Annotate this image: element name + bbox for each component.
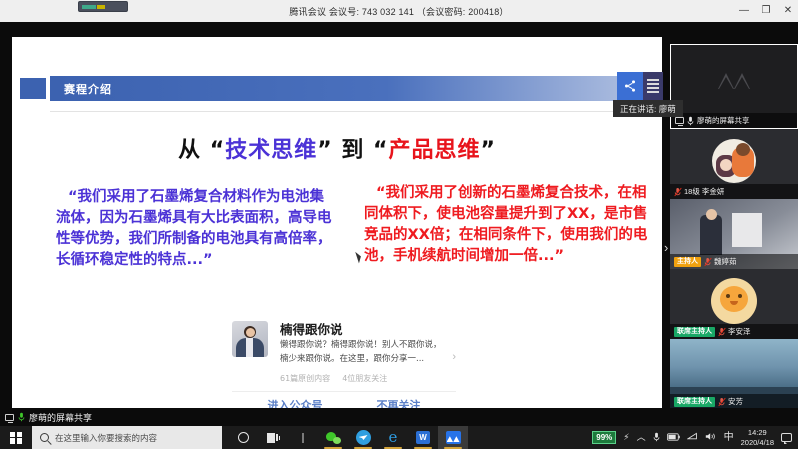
microphone-muted-icon — [704, 257, 711, 267]
account-name: 楠得跟你说 — [280, 319, 343, 338]
participant-name: 李安泽 — [728, 326, 751, 337]
host-badge: 主持人 — [674, 257, 701, 267]
participant-namebar: 联席主持人 安芳 — [670, 394, 798, 409]
microphone-icon — [18, 412, 25, 422]
slide-title-red: 产品思维 — [388, 138, 480, 163]
edge-icon[interactable]: e — [378, 426, 408, 449]
screen-root: 腾讯会议 会议号: 743 032 141 （会议密码: 200418） — ❐… — [0, 0, 798, 449]
share-toolbar[interactable] — [617, 72, 663, 100]
telegram-icon[interactable] — [348, 426, 378, 449]
window-controls: — ❐ ✕ — [738, 0, 794, 22]
task-view-icon[interactable] — [258, 426, 288, 449]
participant-tile-1[interactable]: 18级 李金妍 — [670, 129, 798, 199]
cortana-icon[interactable] — [228, 426, 258, 449]
slide-title-blue: 技术思维 — [225, 138, 317, 163]
slide-banner-label: 赛程介绍 — [64, 81, 112, 97]
quote-product: “我们采用了创新的石墨烯复合技术，在相同体积下，使电池容量提升到了XX，是市售竞… — [364, 183, 656, 267]
participant-name: 廖萌的屏幕共享 — [697, 115, 750, 126]
windows-logo-icon — [10, 432, 22, 444]
collapse-panel-chevron-icon[interactable]: › — [664, 240, 668, 255]
wps-icon[interactable]: W — [408, 426, 438, 449]
participant-namebar: 联席主持人 李安泽 — [670, 324, 798, 339]
presentation-slide: 赛程介绍 从 “技术思维” 到 “产品思维” “我们采用了石墨烯复合材料作为电池… — [12, 37, 662, 417]
chevron-right-icon[interactable]: › — [452, 351, 456, 363]
screen-share-icon — [675, 117, 684, 124]
clock-date: 2020/4/18 — [741, 438, 774, 447]
account-description: 懒得跟你说？楠得跟你说！别人不跟你说，楠少来跟你说。在这里，跟你分享一... — [280, 339, 448, 366]
volume-icon[interactable] — [705, 432, 717, 443]
minimize-button[interactable]: — — [738, 0, 750, 22]
slide-title: 从 “技术思维” 到 “产品思维” — [12, 132, 662, 164]
slide-banner-tab — [20, 78, 46, 99]
screen-share-icon — [5, 414, 14, 421]
network-icon[interactable] — [687, 432, 698, 443]
participant-name: 魏婷茹 — [714, 256, 737, 267]
avatar — [232, 321, 268, 357]
friends-following-count: 4位朋友关注 — [342, 373, 387, 384]
participant-tile-screenshare[interactable]: 廖萌的屏幕共享 — [670, 44, 798, 129]
taskbar-divider — [288, 426, 318, 449]
close-button[interactable]: ✕ — [782, 0, 794, 22]
mouse-cursor — [355, 251, 363, 264]
microphone-icon — [687, 116, 694, 126]
slide-title-middle: ” 到 “ — [317, 138, 388, 163]
screen-share-label: 廖萌的屏幕共享 — [29, 411, 92, 424]
tencent-meeting-icon[interactable] — [438, 426, 468, 449]
taskbar-apps: e W — [228, 426, 468, 449]
screen-share-status-bar: 廖萌的屏幕共享 — [0, 408, 798, 426]
microphone-tray-icon[interactable] — [653, 432, 660, 444]
windows-taskbar: 在这里输入你要搜索的内容 e — [0, 426, 798, 449]
original-content-count: 61篇原创内容 — [280, 373, 330, 384]
notifications-icon[interactable] — [781, 433, 792, 442]
avatar — [711, 278, 757, 324]
chevron-up-icon[interactable]: ︿ — [637, 433, 646, 442]
search-placeholder: 在这里输入你要搜索的内容 — [55, 432, 157, 444]
share-icon[interactable] — [617, 72, 643, 100]
participant-tile-2[interactable]: 主持人 魏婷茹 — [670, 199, 798, 269]
microphone-muted-icon — [718, 327, 725, 337]
more-options-icon[interactable] — [643, 72, 663, 100]
search-icon — [40, 433, 49, 442]
system-tray: 99% ⚡ ︿ 中 14:29 2020/4/18 — [592, 428, 798, 447]
power-plug-icon[interactable]: ⚡ — [623, 433, 629, 442]
start-button[interactable] — [0, 426, 32, 449]
participant-tile-4[interactable]: 联席主持人 安芳 — [670, 339, 798, 409]
participant-namebar: 廖萌的屏幕共享 — [671, 113, 797, 128]
participant-rail: 廖萌的屏幕共享 18级 李金妍 — [670, 44, 798, 449]
battery-icon[interactable] — [667, 433, 680, 443]
wechat-official-account-card[interactable]: 楠得跟你说 懒得跟你说？楠得跟你说！别人不跟你说，楠少来跟你说。在这里，跟你分享… — [218, 309, 470, 417]
cohost-badge: 联席主持人 — [674, 397, 715, 407]
battery-percentage[interactable]: 99% — [592, 431, 616, 444]
participant-tile-3[interactable]: 联席主持人 李安泽 — [670, 269, 798, 339]
cohost-badge: 联席主持人 — [674, 327, 715, 337]
participant-name: 安芳 — [728, 396, 743, 407]
speaking-tooltip: 正在讲话: 廖萌 — [613, 100, 683, 117]
participant-namebar: 主持人 魏婷茹 — [670, 254, 798, 269]
slide-banner: 赛程介绍 — [50, 76, 662, 101]
meeting-titlebar: 腾讯会议 会议号: 743 032 141 （会议密码: 200418） — ❐… — [0, 0, 798, 22]
participant-name: 18级 李金妍 — [684, 186, 724, 197]
shared-screen-area[interactable]: 赛程介绍 从 “技术思维” 到 “产品思维” “我们采用了石墨烯复合材料作为电池… — [12, 37, 662, 417]
wechat-icon[interactable] — [318, 426, 348, 449]
microphone-muted-icon — [718, 397, 725, 407]
ime-indicator[interactable]: 中 — [724, 433, 734, 443]
slide-title-suffix: ” — [480, 138, 495, 163]
meeting-title: 腾讯会议 会议号: 743 032 141 （会议密码: 200418） — [289, 5, 508, 18]
card-divider — [232, 391, 456, 392]
search-input[interactable]: 在这里输入你要搜索的内容 — [32, 426, 222, 449]
clock-time: 14:29 — [748, 428, 767, 437]
account-meta: 61篇原创内容 4位朋友关注 — [280, 373, 387, 384]
meeting-stage: 赛程介绍 从 “技术思维” 到 “产品思维” “我们采用了石墨烯复合材料作为电池… — [0, 22, 798, 427]
slide-divider — [50, 111, 662, 112]
microphone-muted-icon — [674, 187, 681, 197]
quote-technical: “我们采用了石墨烯复合材料作为电池集流体，因为石墨烯具有大比表面积，高导电性等优… — [56, 187, 338, 271]
avatar — [712, 139, 756, 183]
maximize-button[interactable]: ❐ — [760, 0, 772, 22]
participant-namebar: 18级 李金妍 — [670, 184, 798, 199]
clock[interactable]: 14:29 2020/4/18 — [741, 428, 774, 447]
slide-title-prefix: 从 “ — [178, 138, 225, 163]
